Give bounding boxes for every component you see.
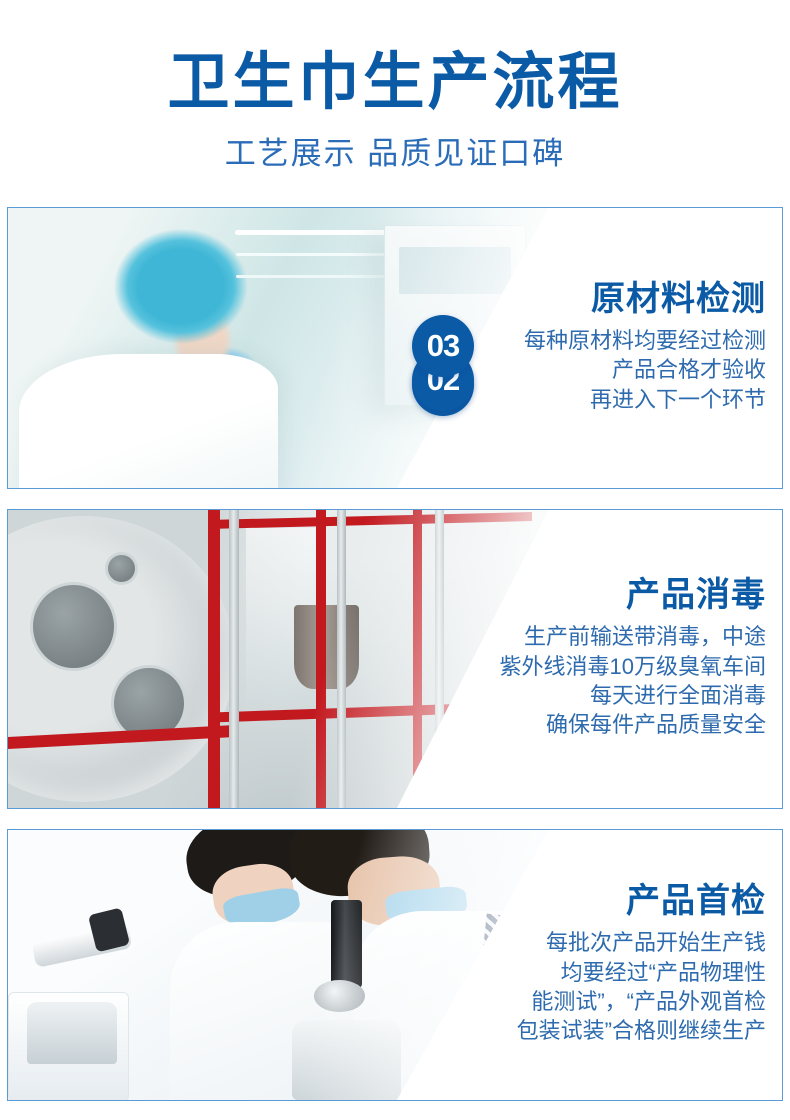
process-step-card-3[interactable]: 产品首检 每批次产品开始生产钱 均要经过“产品物理性 能测试”，“产品外观首检 … [7,829,783,1101]
step-description-line: 每批次产品开始生产钱 [362,928,766,957]
process-step-card-1[interactable]: 原材料检测 每种原材料均要经过检测 产品合格才验收 再进入下一个环节 [7,207,783,489]
step-title-3: 产品首检 [362,884,766,918]
page-header: 卫生巾生产流程 工艺展示 品质见证口碑 [0,0,790,169]
drum-port-decor [105,552,138,585]
page-title: 卫生巾生产流程 [0,52,790,114]
step-title-2: 产品消毒 [362,578,766,612]
red-frame-decor [208,510,220,808]
step-description-2: 生产前输送带消毒，中途 紫外线消毒10万级臭氧车间 每天进行全面消毒 确保每件产… [362,622,766,740]
step-description-line: 紫外线消毒10万级臭氧车间 [362,652,766,681]
lab-coat-decor [19,354,278,488]
process-step-list: 原材料检测 每种原材料均要经过检测 产品合格才验收 再进入下一个环节 [0,207,790,1101]
step-title-1: 原材料检测 [362,282,766,316]
step-number-badge-3: 03 [412,315,474,377]
step-text-panel-2: 产品消毒 生产前输送带消毒，中途 紫外线消毒10万级臭氧车间 每天进行全面消毒 … [362,510,782,808]
microscope-decor [19,911,159,1068]
process-vessel-decor [294,605,359,688]
step-description-3: 每批次产品开始生产钱 均要经过“产品物理性 能测试”，“产品外观首检 包装试装”… [362,928,766,1046]
microscope-tube-decor [331,900,362,988]
page-subtitle: 工艺展示 品质见证口碑 [0,114,790,169]
step-description-line: 均要经过“产品物理性 [362,958,766,987]
aluminium-post-decor [229,510,239,808]
step-description-line: 能测试”，“产品外观首检 [362,987,766,1016]
step-description-line: 每天进行全面消毒 [362,681,766,710]
step-description-line: 确保每件产品质量安全 [362,710,766,739]
microscope-knob-decor [314,980,365,1012]
process-step-card-2[interactable]: 产品消毒 生产前输送带消毒，中途 紫外线消毒10万级臭氧车间 每天进行全面消毒 … [7,509,783,809]
microscope-base-decor [27,1002,117,1065]
step-description-line: 生产前输送带消毒，中途 [362,622,766,651]
step-description-line: 包装试装”合格则继续生产 [362,1016,766,1045]
drum-port-decor [30,582,117,671]
step-text-panel-3: 产品首检 每批次产品开始生产钱 均要经过“产品物理性 能测试”，“产品外观首检 … [362,830,782,1100]
aluminium-post-decor [337,510,346,808]
red-frame-decor [316,510,326,808]
